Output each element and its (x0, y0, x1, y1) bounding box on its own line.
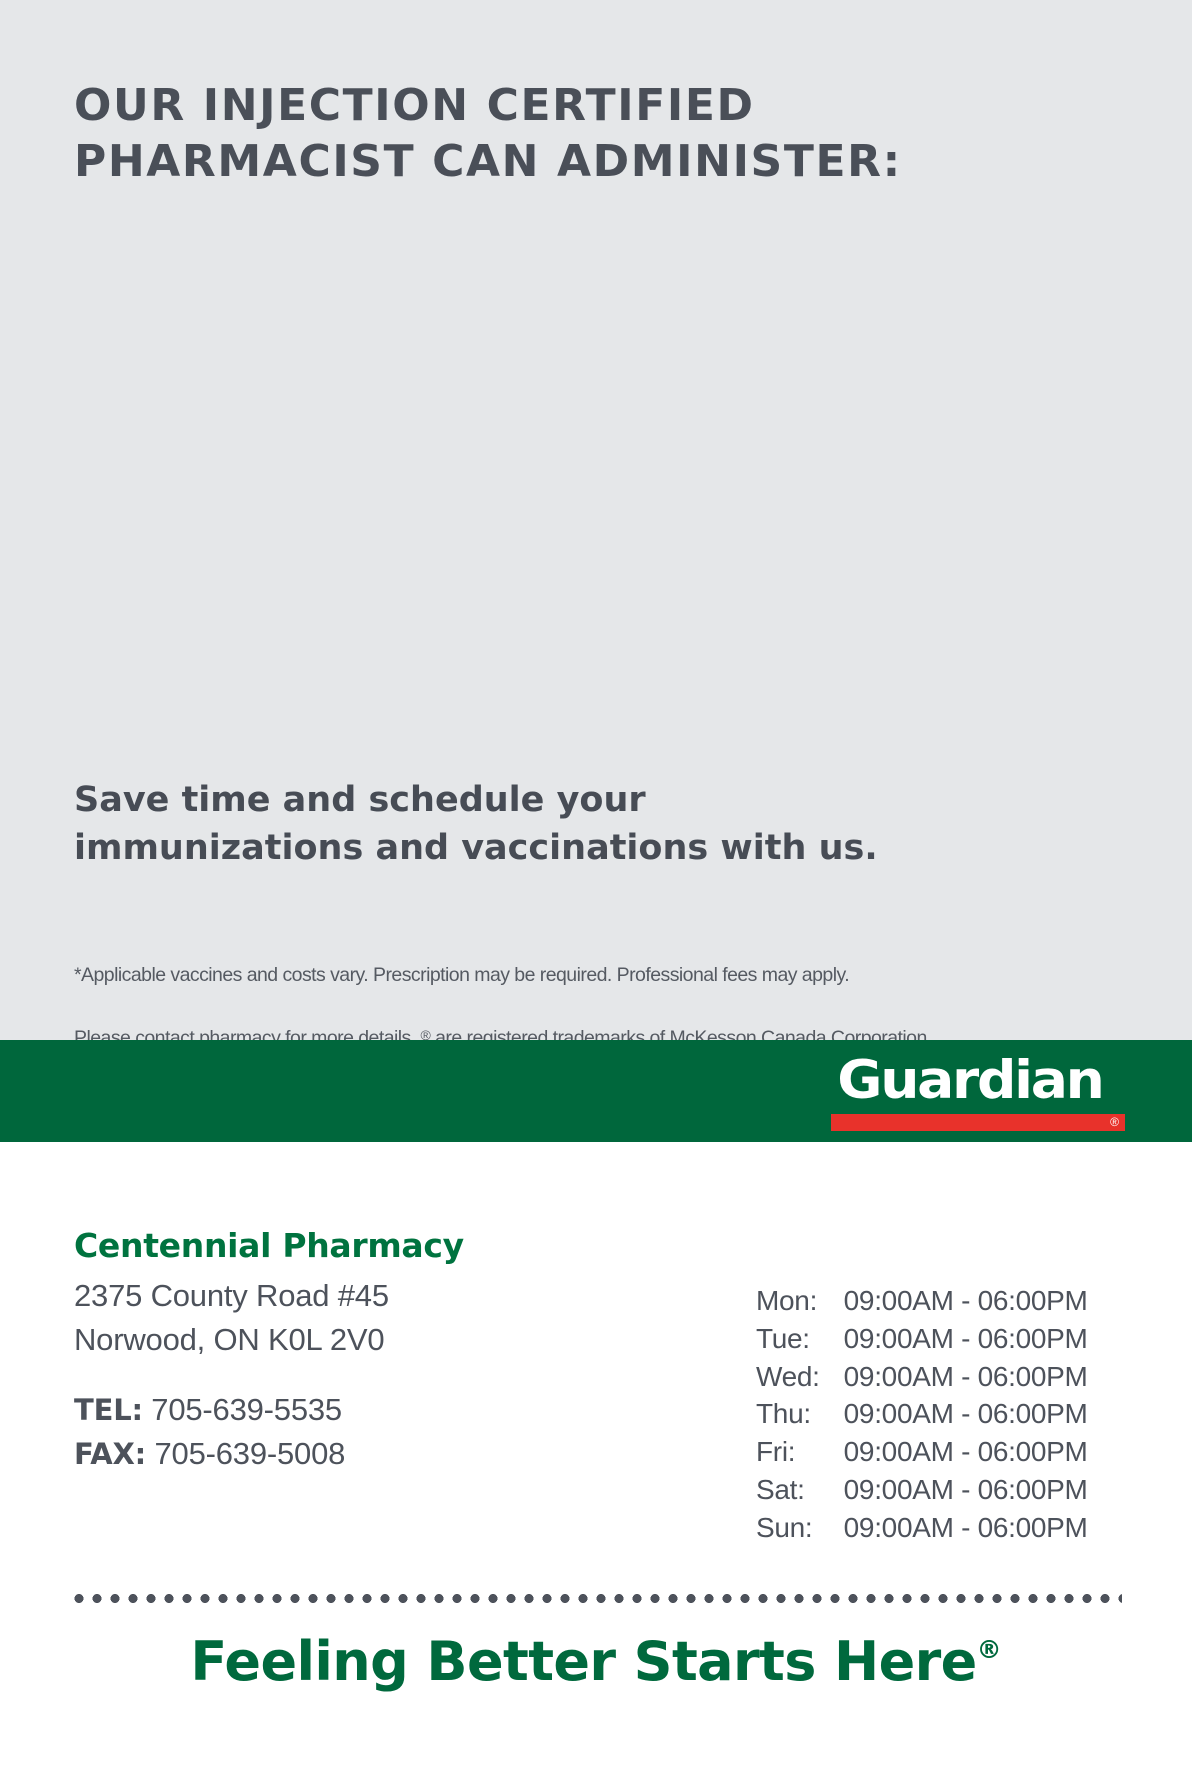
hours-time-value: 09:00AM - 06:00PM (844, 1395, 1088, 1433)
hours-day-label: Sun: (756, 1509, 844, 1547)
hours-time-value: 09:00AM - 06:00PM (844, 1358, 1088, 1396)
fax-row: FAX: 705-639-5008 (74, 1432, 594, 1476)
table-row: Thu: 09:00AM - 06:00PM (756, 1395, 1088, 1433)
hours-time-value: 09:00AM - 06:00PM (844, 1320, 1088, 1358)
fax-label: FAX: (74, 1437, 146, 1471)
hours-day-label: Mon: (756, 1282, 844, 1320)
hours-time-value: 09:00AM - 06:00PM (844, 1433, 1088, 1471)
hours-time-value: 09:00AM - 06:00PM (844, 1282, 1088, 1320)
store-address: 2375 County Road #45 Norwood, ON K0L 2V0 (74, 1274, 594, 1362)
store-info-panel: Centennial Pharmacy 2375 County Road #45… (0, 1142, 1192, 1785)
hours-day-label: Sat: (756, 1471, 844, 1509)
hours-time-value: 09:00AM - 06:00PM (844, 1471, 1088, 1509)
disclaimer-text: *Applicable vaccines and costs vary. Pre… (74, 928, 1130, 1054)
brand-band: Guardian ® (0, 1040, 1192, 1142)
telephone-label: TEL: (74, 1393, 143, 1427)
hours-time-value: 09:00AM - 06:00PM (844, 1509, 1088, 1547)
guardian-logo: Guardian ® (831, 1054, 1125, 1131)
table-row: Sun: 09:00AM - 06:00PM (756, 1509, 1088, 1547)
registered-trademark-icon: ® (977, 1635, 1002, 1664)
promo-panel: OUR INJECTION CERTIFIED PHARMACIST CAN A… (0, 0, 1192, 1040)
flyer-page: OUR INJECTION CERTIFIED PHARMACIST CAN A… (0, 0, 1192, 1785)
table-row: Mon: 09:00AM - 06:00PM (756, 1282, 1088, 1320)
logo-underline-bar: ® (831, 1114, 1125, 1131)
telephone-value[interactable]: 705-639-5535 (151, 1392, 342, 1427)
page-title: OUR INJECTION CERTIFIED PHARMACIST CAN A… (74, 78, 994, 191)
hours-table: Mon: 09:00AM - 06:00PM Tue: 09:00AM - 06… (756, 1282, 1088, 1547)
brand-tagline: Feeling Better Starts Here® (0, 1630, 1192, 1693)
guardian-wordmark: Guardian (831, 1054, 1137, 1107)
store-name: Centennial Pharmacy (74, 1227, 594, 1266)
registered-trademark-icon: ® (1110, 1115, 1119, 1130)
fax-value: 705-639-5008 (155, 1436, 346, 1471)
table-row: Sat: 09:00AM - 06:00PM (756, 1471, 1088, 1509)
store-hours: Mon: 09:00AM - 06:00PM Tue: 09:00AM - 06… (756, 1282, 1088, 1547)
promo-subheading: Save time and schedule your immunization… (74, 776, 954, 873)
table-row: Wed: 09:00AM - 06:00PM (756, 1358, 1088, 1396)
tagline-text: Feeling Better Starts Here (190, 1630, 976, 1693)
dotted-divider (70, 1594, 1122, 1603)
hours-day-label: Fri: (756, 1433, 844, 1471)
hours-table-body: Mon: 09:00AM - 06:00PM Tue: 09:00AM - 06… (756, 1282, 1088, 1547)
hours-day-label: Wed: (756, 1358, 844, 1396)
hours-day-label: Tue: (756, 1320, 844, 1358)
disclaimer-line-1: *Applicable vaccines and costs vary. Pre… (74, 964, 849, 986)
telephone-row: TEL: 705-639-5535 (74, 1388, 594, 1432)
hours-day-label: Thu: (756, 1395, 844, 1433)
store-contact: TEL: 705-639-5535 FAX: 705-639-5008 (74, 1388, 594, 1476)
table-row: Tue: 09:00AM - 06:00PM (756, 1320, 1088, 1358)
store-details: Centennial Pharmacy 2375 County Road #45… (74, 1227, 594, 1476)
table-row: Fri: 09:00AM - 06:00PM (756, 1433, 1088, 1471)
